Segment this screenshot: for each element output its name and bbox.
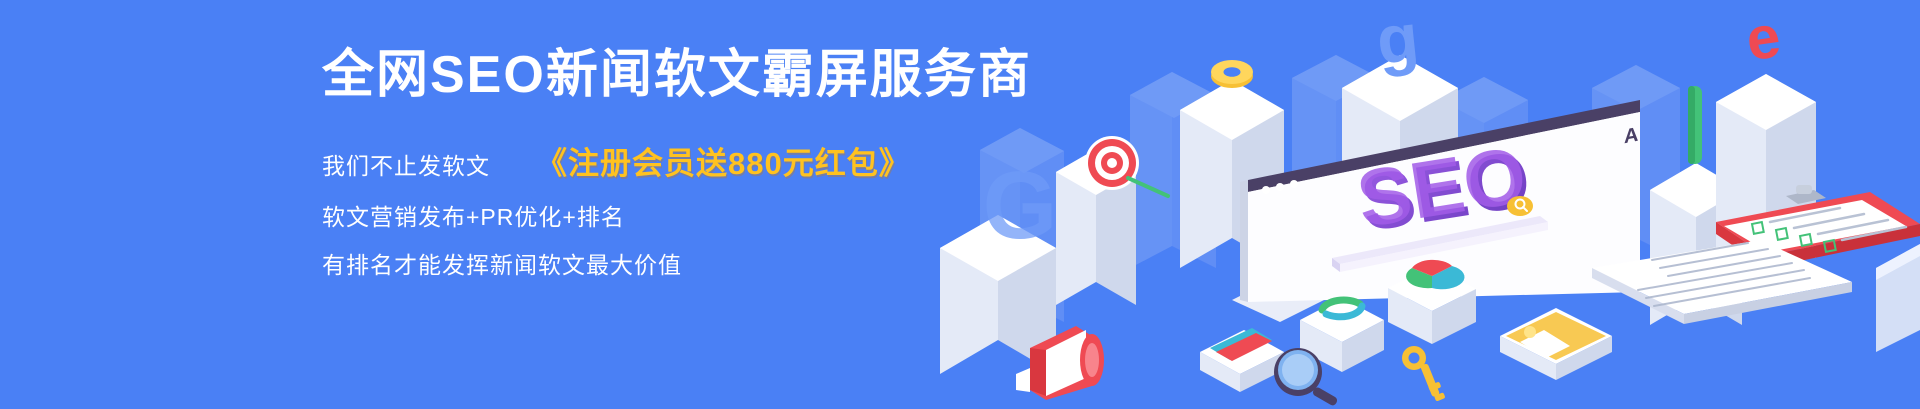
floating-letter-o-icon [1211, 60, 1253, 88]
isometric-seo-illustration: g e G [880, 0, 1920, 409]
floating-letter-G-icon: G [983, 152, 1058, 259]
svg-text:G: G [983, 152, 1058, 259]
banner-copy-block: 全网SEO新闻软文霸屏服务商 我们不止发软文《注册会员送880元红包》 软文营销… [0, 0, 960, 409]
feature-line: 软文营销发布+PR优化+排名 [322, 198, 625, 232]
seo-promo-banner: 全网SEO新闻软文霸屏服务商 我们不止发软文《注册会员送880元红包》 软文营销… [0, 0, 1920, 409]
promo-badge-text: 《注册会员送880元红包》 [536, 146, 911, 181]
browser-dot [1276, 183, 1284, 191]
svg-text:g: g [1373, 0, 1422, 79]
subline-row: 我们不止发软文《注册会员送880元红包》 [322, 144, 911, 190]
floating-letter-l-icon [1688, 86, 1702, 164]
browser-dot [1290, 180, 1298, 188]
svg-text:e: e [1742, 2, 1784, 73]
subline-plain-text: 我们不止发软文 [322, 153, 490, 179]
value-line: 有排名才能发挥新闻软文最大价值 [322, 246, 682, 280]
pedestal-block [1876, 244, 1920, 352]
floating-letter-e-icon: e [1742, 2, 1784, 73]
browser-dot [1262, 186, 1270, 194]
floating-letter-g-icon: g [1373, 0, 1422, 79]
search-icon [1507, 196, 1533, 216]
ribbon-icon [1200, 328, 1284, 392]
key-icon [1402, 346, 1446, 402]
document-drop-cap: A [1624, 124, 1639, 149]
image-placeholder-icon [1500, 308, 1612, 380]
